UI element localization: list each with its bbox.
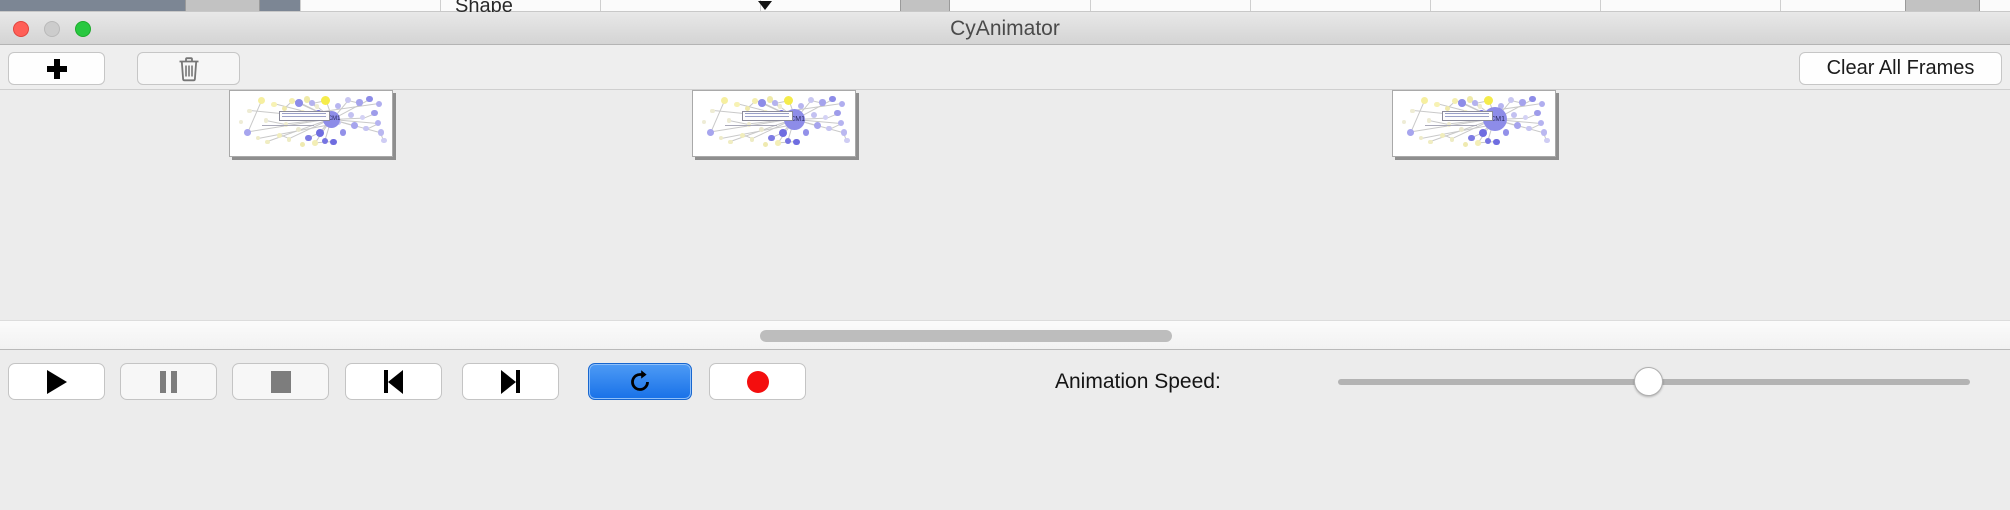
network-node: [793, 139, 799, 145]
stop-button[interactable]: [232, 363, 329, 400]
network-node: [345, 97, 351, 103]
network-node: [1541, 129, 1547, 135]
network-node: [1419, 136, 1423, 140]
network-node: [710, 109, 714, 113]
network-node: [814, 122, 821, 129]
frame-network-preview: MCM1: [230, 91, 392, 156]
delete-frame-button[interactable]: [137, 52, 240, 85]
frame-network-preview: MCM1: [693, 91, 855, 156]
network-node: [340, 129, 346, 135]
network-node: [258, 97, 265, 104]
network-node: [778, 104, 783, 109]
network-node: [305, 135, 312, 142]
play-button[interactable]: [8, 363, 105, 400]
skip-forward-icon: [501, 370, 520, 394]
network-node: [1544, 138, 1550, 144]
network-node: [322, 138, 328, 144]
network-node: [727, 118, 731, 122]
network-node: [721, 97, 728, 104]
background-seam: [1600, 0, 1601, 12]
background-seam: [440, 0, 441, 12]
background-grey-tab: [1905, 0, 1980, 12]
network-annotation-text-line: [745, 113, 789, 114]
network-node: [798, 103, 804, 109]
frame-network-preview: MCM1: [1393, 91, 1555, 156]
timeline-scrollbar[interactable]: [0, 320, 2010, 349]
network-annotation-text-line: [1445, 116, 1489, 117]
pause-button[interactable]: [120, 363, 217, 400]
network-node: [785, 138, 791, 144]
network-node: [702, 120, 706, 124]
network-node: [1534, 110, 1540, 116]
network-node: [360, 115, 365, 120]
network-node: [300, 142, 305, 147]
network-node: [734, 102, 740, 108]
network-node: [309, 100, 315, 106]
network-node: [1484, 96, 1493, 105]
title-bar: CyAnimator: [0, 12, 2010, 45]
network-node: [1519, 99, 1525, 105]
network-node: [1434, 102, 1440, 108]
network-node: [768, 135, 775, 142]
cyanimator-window: Shape CyAnimator Clear All Frames MCM1MC…: [0, 0, 2010, 510]
network-node: [277, 133, 282, 138]
network-node: [271, 102, 277, 108]
network-node: [1523, 115, 1528, 120]
network-node: [335, 103, 341, 109]
network-node: [1440, 133, 1445, 138]
animation-speed-slider-thumb[interactable]: [1634, 367, 1663, 396]
network-node: [839, 101, 845, 107]
network-node: [1458, 99, 1466, 107]
network-node: [1427, 118, 1431, 122]
playback-control-bar: Animation Speed:: [0, 349, 2010, 410]
network-annotation-text-line: [282, 113, 326, 114]
network-annotation-text-line: [282, 116, 326, 117]
network-annotation-text-line: [1445, 113, 1489, 114]
network-node: [779, 129, 787, 137]
network-node: [363, 126, 369, 132]
network-node: [1410, 109, 1414, 113]
background-seam: [300, 0, 301, 12]
network-node: [287, 137, 292, 142]
network-annotation-text-line: [745, 116, 789, 117]
background-grey-tab: [185, 0, 260, 12]
network-node: [1421, 97, 1428, 104]
network-node: [772, 100, 778, 106]
network-node: [295, 99, 303, 107]
trash-icon: [177, 56, 201, 82]
network-node: [1508, 97, 1514, 103]
stop-icon: [271, 371, 291, 393]
network-node: [1479, 129, 1487, 137]
loop-button[interactable]: [588, 363, 692, 400]
network-edge: [1410, 100, 1425, 133]
network-node: [375, 120, 381, 126]
network-node: [312, 140, 318, 146]
network-edge: [247, 100, 262, 133]
frame-thumbnail[interactable]: MCM1: [1392, 90, 1556, 157]
network-node: [316, 129, 324, 137]
network-node: [719, 136, 723, 140]
network-node: [315, 104, 320, 109]
network-caption-line: [725, 125, 777, 126]
network-node: [728, 140, 733, 145]
network-node: [841, 129, 847, 135]
network-node: [265, 140, 270, 145]
background-seam: [1430, 0, 1431, 12]
network-node: [1475, 140, 1481, 146]
network-node: [1485, 138, 1491, 144]
skip-to-start-button[interactable]: [345, 363, 442, 400]
network-node: [351, 122, 358, 129]
network-node: [371, 110, 377, 116]
network-caption-line: [1425, 125, 1477, 126]
network-node: [808, 97, 814, 103]
network-node: [829, 96, 836, 103]
network-node: [1468, 135, 1475, 142]
network-node: [844, 138, 850, 144]
network-node: [763, 142, 768, 147]
network-node: [823, 115, 828, 120]
skip-back-icon: [384, 370, 403, 394]
network-node: [1478, 104, 1483, 109]
network-node: [758, 99, 766, 107]
network-node: [775, 140, 781, 146]
network-node: [247, 109, 251, 113]
network-node: [834, 110, 840, 116]
network-node: [1493, 139, 1499, 145]
network-node: [1526, 126, 1532, 132]
network-node: [1402, 120, 1406, 124]
background-seam: [1250, 0, 1251, 12]
network-node: [378, 129, 384, 135]
network-node: [366, 96, 373, 103]
toolbar: Clear All Frames: [0, 45, 2010, 90]
clear-all-frames-button[interactable]: Clear All Frames: [1799, 52, 2002, 85]
background-grey-tab: [900, 0, 950, 12]
network-node: [819, 99, 825, 105]
background-sort-caret-icon: [758, 1, 772, 10]
add-frame-button[interactable]: [8, 52, 105, 85]
play-icon: [47, 370, 67, 394]
network-node: [1463, 142, 1468, 147]
frame-thumbnail[interactable]: MCM1: [229, 90, 393, 157]
network-node: [803, 129, 809, 135]
window-title: CyAnimator: [0, 12, 2010, 45]
record-icon: [747, 371, 769, 393]
network-node: [1514, 122, 1521, 129]
network-caption-line: [262, 125, 314, 126]
background-app-strip: [0, 0, 2010, 12]
network-node: [707, 129, 714, 136]
network-node: [264, 118, 268, 122]
network-node: [838, 120, 844, 126]
network-node: [1529, 96, 1536, 103]
network-node: [1450, 137, 1455, 142]
network-node: [784, 96, 793, 105]
timeline-panel[interactable]: MCM1MCM1MCM1 12131415161718 Seconds: [0, 90, 2010, 320]
plus-icon: [47, 59, 67, 79]
network-node: [826, 126, 832, 132]
network-node: [740, 133, 745, 138]
network-node: [1539, 101, 1545, 107]
animation-speed-label: Animation Speed:: [1055, 363, 1221, 400]
network-node: [256, 136, 260, 140]
network-node: [1503, 129, 1509, 135]
background-seam: [600, 0, 601, 12]
network-node: [1407, 129, 1414, 136]
record-button[interactable]: [709, 363, 806, 400]
network-node: [1538, 120, 1544, 126]
network-node: [321, 96, 330, 105]
network-node: [381, 138, 387, 144]
skip-to-end-button[interactable]: [462, 363, 559, 400]
network-node: [750, 137, 755, 142]
loop-icon: [627, 369, 653, 395]
network-edge: [710, 100, 725, 133]
frame-thumbnail[interactable]: MCM1: [692, 90, 856, 157]
network-node: [356, 99, 362, 105]
network-node: [330, 139, 336, 145]
background-seam: [1780, 0, 1781, 12]
network-node: [376, 101, 382, 107]
background-seam: [1090, 0, 1091, 12]
network-node: [1472, 100, 1478, 106]
network-node: [1428, 140, 1433, 145]
timeline-scrollbar-thumb[interactable]: [760, 330, 1172, 342]
network-node: [244, 129, 251, 136]
pause-icon: [160, 371, 177, 393]
network-node: [239, 120, 243, 124]
